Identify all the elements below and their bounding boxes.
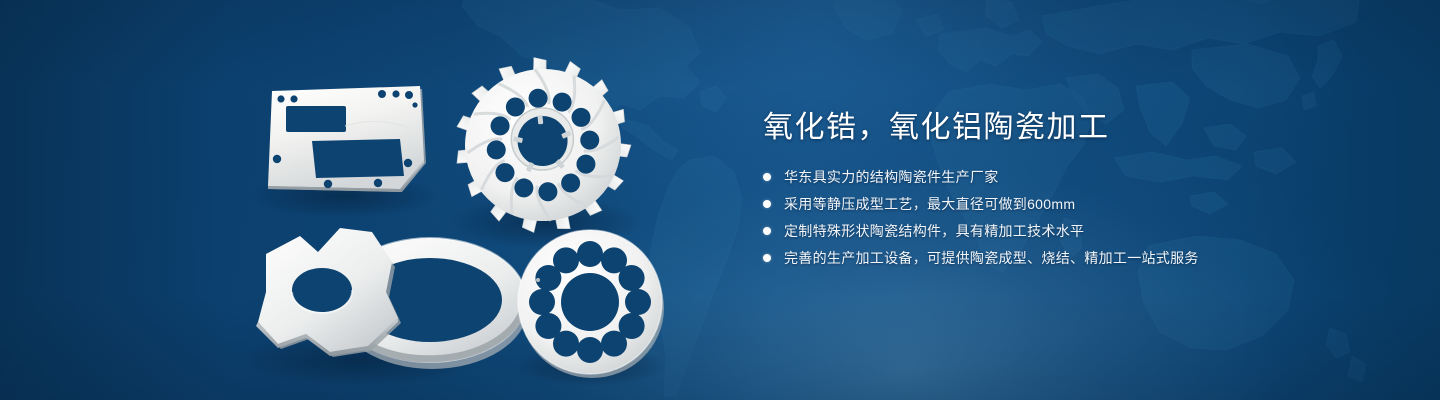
bullet-dot-icon <box>763 254 771 262</box>
bullet-dot-icon <box>763 227 771 235</box>
list-item: 定制特殊形状陶瓷结构件，具有精加工技术水平 <box>763 220 1403 242</box>
feature-text: 华东具实力的结构陶瓷件生产厂家 <box>784 166 999 188</box>
hero-banner: 氧化锆，氧化铝陶瓷加工 华东具实力的结构陶瓷件生产厂家 采用等静压成型工艺，最大… <box>0 0 1440 400</box>
list-item: 完善的生产加工设备，可提供陶瓷成型、烧结、精加工一站式服务 <box>763 247 1403 269</box>
product-photo-group <box>0 0 720 400</box>
list-item: 采用等静压成型工艺，最大直径可做到600mm <box>763 193 1403 215</box>
feature-text: 采用等静压成型工艺，最大直径可做到600mm <box>784 193 1075 215</box>
ceramic-perforated-disc <box>518 230 664 378</box>
feature-list: 华东具实力的结构陶瓷件生产厂家 采用等静压成型工艺，最大直径可做到600mm 定… <box>763 166 1403 269</box>
feature-text: 定制特殊形状陶瓷结构件，具有精加工技术水平 <box>784 220 1084 242</box>
ceramic-machined-plate <box>268 86 426 192</box>
banner-copy: 氧化锆，氧化铝陶瓷加工 华东具实力的结构陶瓷件生产厂家 采用等静压成型工艺，最大… <box>763 108 1403 274</box>
bullet-dot-icon <box>763 200 771 208</box>
list-item: 华东具实力的结构陶瓷件生产厂家 <box>763 166 1403 188</box>
ceramic-cross-plate <box>256 228 401 357</box>
page-title: 氧化锆，氧化铝陶瓷加工 <box>763 108 1403 148</box>
bullet-dot-icon <box>763 173 771 181</box>
feature-text: 完善的生产加工设备，可提供陶瓷成型、烧结、精加工一站式服务 <box>784 247 1199 269</box>
